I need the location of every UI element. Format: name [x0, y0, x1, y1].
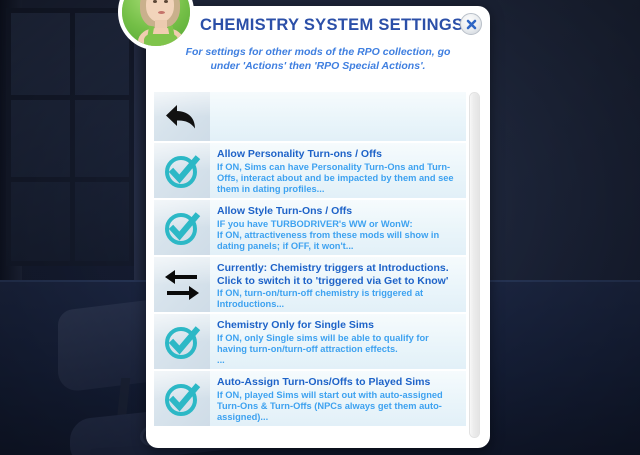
toggle-icon-cell	[154, 314, 210, 369]
setting-row-desc: If ON, Sims can have Personality Turn-On…	[217, 162, 458, 196]
setting-row-text: Auto-Assign Turn-Ons/Offs to Played Sims…	[210, 371, 466, 426]
dialog-subtitle: For settings for other mods of the RPO c…	[184, 46, 452, 73]
close-button[interactable]	[460, 13, 482, 35]
toggle-icon-cell	[154, 143, 210, 198]
setting-row-auto-assign[interactable]: Auto-Assign Turn-Ons/Offs to Played Sims…	[154, 370, 466, 426]
setting-row-desc: If ON, played Sims will start out with a…	[217, 390, 458, 424]
vertical-scrollbar[interactable]	[469, 92, 480, 438]
check-circle-icon	[161, 150, 203, 192]
check-circle-icon	[161, 378, 203, 420]
setting-row-single-sims[interactable]: Chemistry Only for Single Sims If ON, on…	[154, 313, 466, 369]
avatar	[118, 0, 194, 50]
setting-row-text: Allow Personality Turn-ons / Offs If ON,…	[210, 143, 466, 198]
setting-row-desc: If ON, only Single sims will be able to …	[217, 333, 458, 367]
toggle-icon-cell	[154, 200, 210, 255]
setting-row-title: Allow Style Turn-Ons / Offs	[217, 205, 458, 218]
setting-row-title: Currently: Chemistry triggers at Introdu…	[217, 262, 458, 287]
setting-row-chemistry-trigger[interactable]: Currently: Chemistry triggers at Introdu…	[154, 256, 466, 312]
check-circle-icon	[161, 321, 203, 363]
check-circle-icon	[161, 207, 203, 249]
back-row-text	[210, 92, 466, 141]
close-icon	[465, 18, 478, 31]
setting-row-personality-turnons[interactable]: Allow Personality Turn-ons / Offs If ON,…	[154, 142, 466, 198]
swap-icon-cell	[154, 257, 210, 312]
toggle-icon-cell	[154, 371, 210, 426]
back-row[interactable]	[154, 91, 466, 141]
setting-row-title: Allow Personality Turn-ons / Offs	[217, 148, 458, 161]
scrollbar-thumb[interactable]	[470, 93, 479, 437]
settings-list: Allow Personality Turn-ons / Offs If ON,…	[154, 91, 482, 440]
back-arrow-icon	[163, 101, 201, 133]
setting-row-title: Chemistry Only for Single Sims	[217, 319, 458, 332]
page-title: CHEMISTRY SYSTEM SETTINGS	[200, 16, 452, 35]
setting-row-style-turnons[interactable]: Allow Style Turn-Ons / Offs IF you have …	[154, 199, 466, 255]
setting-row-desc: If ON, turn-on/turn-off chemistry is tri…	[217, 288, 458, 311]
back-icon-cell	[154, 92, 210, 141]
swap-arrows-icon	[161, 265, 203, 305]
setting-row-title: Auto-Assign Turn-Ons/Offs to Played Sims	[217, 376, 458, 389]
background-window	[6, 8, 134, 266]
setting-row-text: Currently: Chemistry triggers at Introdu…	[210, 257, 466, 312]
setting-row-desc: IF you have TURBODRIVER's WW or WonW: If…	[217, 219, 458, 253]
chemistry-settings-dialog: CHEMISTRY SYSTEM SETTINGS For settings f…	[146, 6, 490, 448]
setting-row-text: Allow Style Turn-Ons / Offs IF you have …	[210, 200, 466, 255]
setting-row-text: Chemistry Only for Single Sims If ON, on…	[210, 314, 466, 369]
